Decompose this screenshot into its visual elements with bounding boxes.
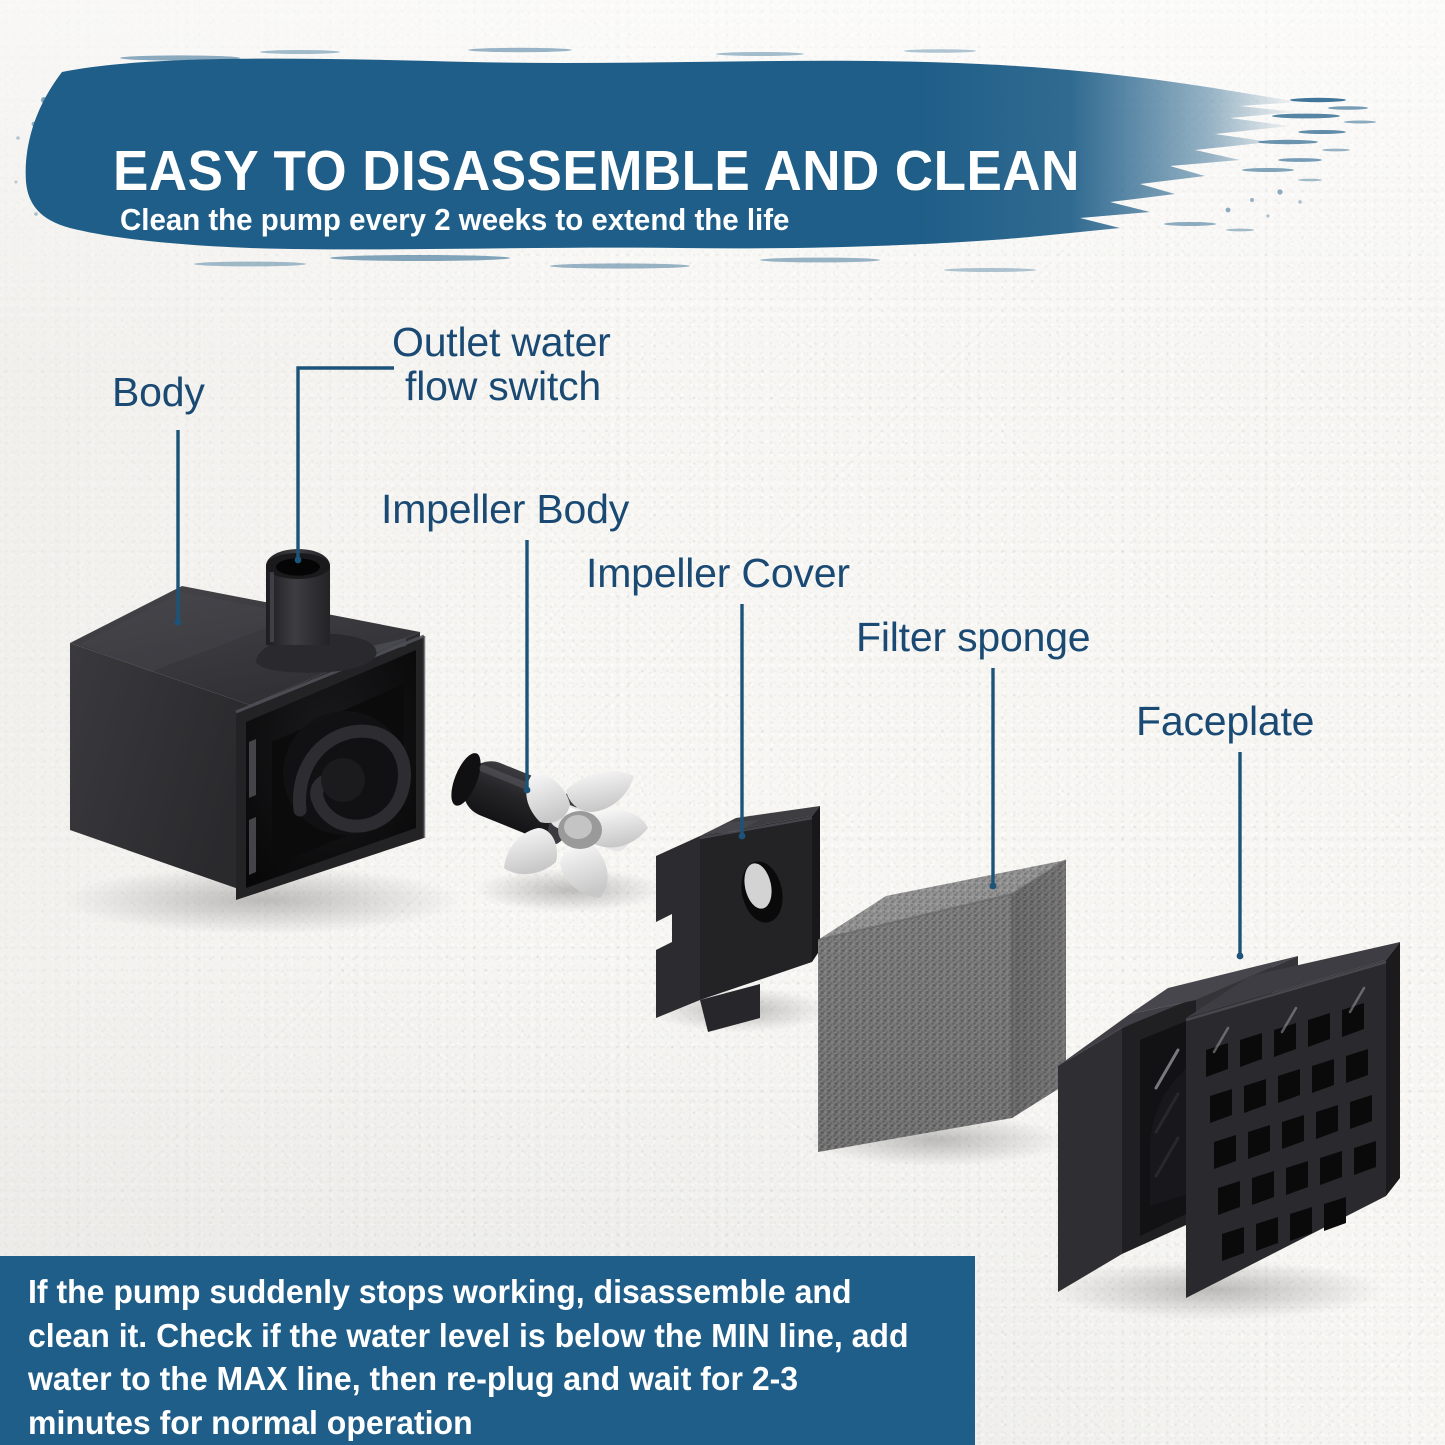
footer-note-banner: If the pump suddenly stops working, disa… [0, 1256, 975, 1445]
part-filter-sponge [818, 860, 1066, 1152]
label-faceplate: Faceplate [1136, 699, 1314, 744]
label-body: Body [112, 370, 205, 415]
infographic-canvas: EASY TO DISASSEMBLE AND CLEAN Clean the … [0, 0, 1445, 1445]
label-outlet-line1: Outlet water [392, 320, 611, 365]
label-impeller-cover: Impeller Cover [586, 551, 850, 596]
part-outlet-spout [256, 549, 377, 673]
part-pump-body [70, 586, 424, 900]
label-impeller-body: Impeller Body [381, 487, 629, 532]
label-filter-sponge: Filter sponge [856, 615, 1090, 660]
part-faceplate [1058, 942, 1400, 1298]
label-outlet-line2: flow switch [405, 364, 601, 409]
footer-note-text: If the pump suddenly stops working, disa… [28, 1270, 925, 1444]
